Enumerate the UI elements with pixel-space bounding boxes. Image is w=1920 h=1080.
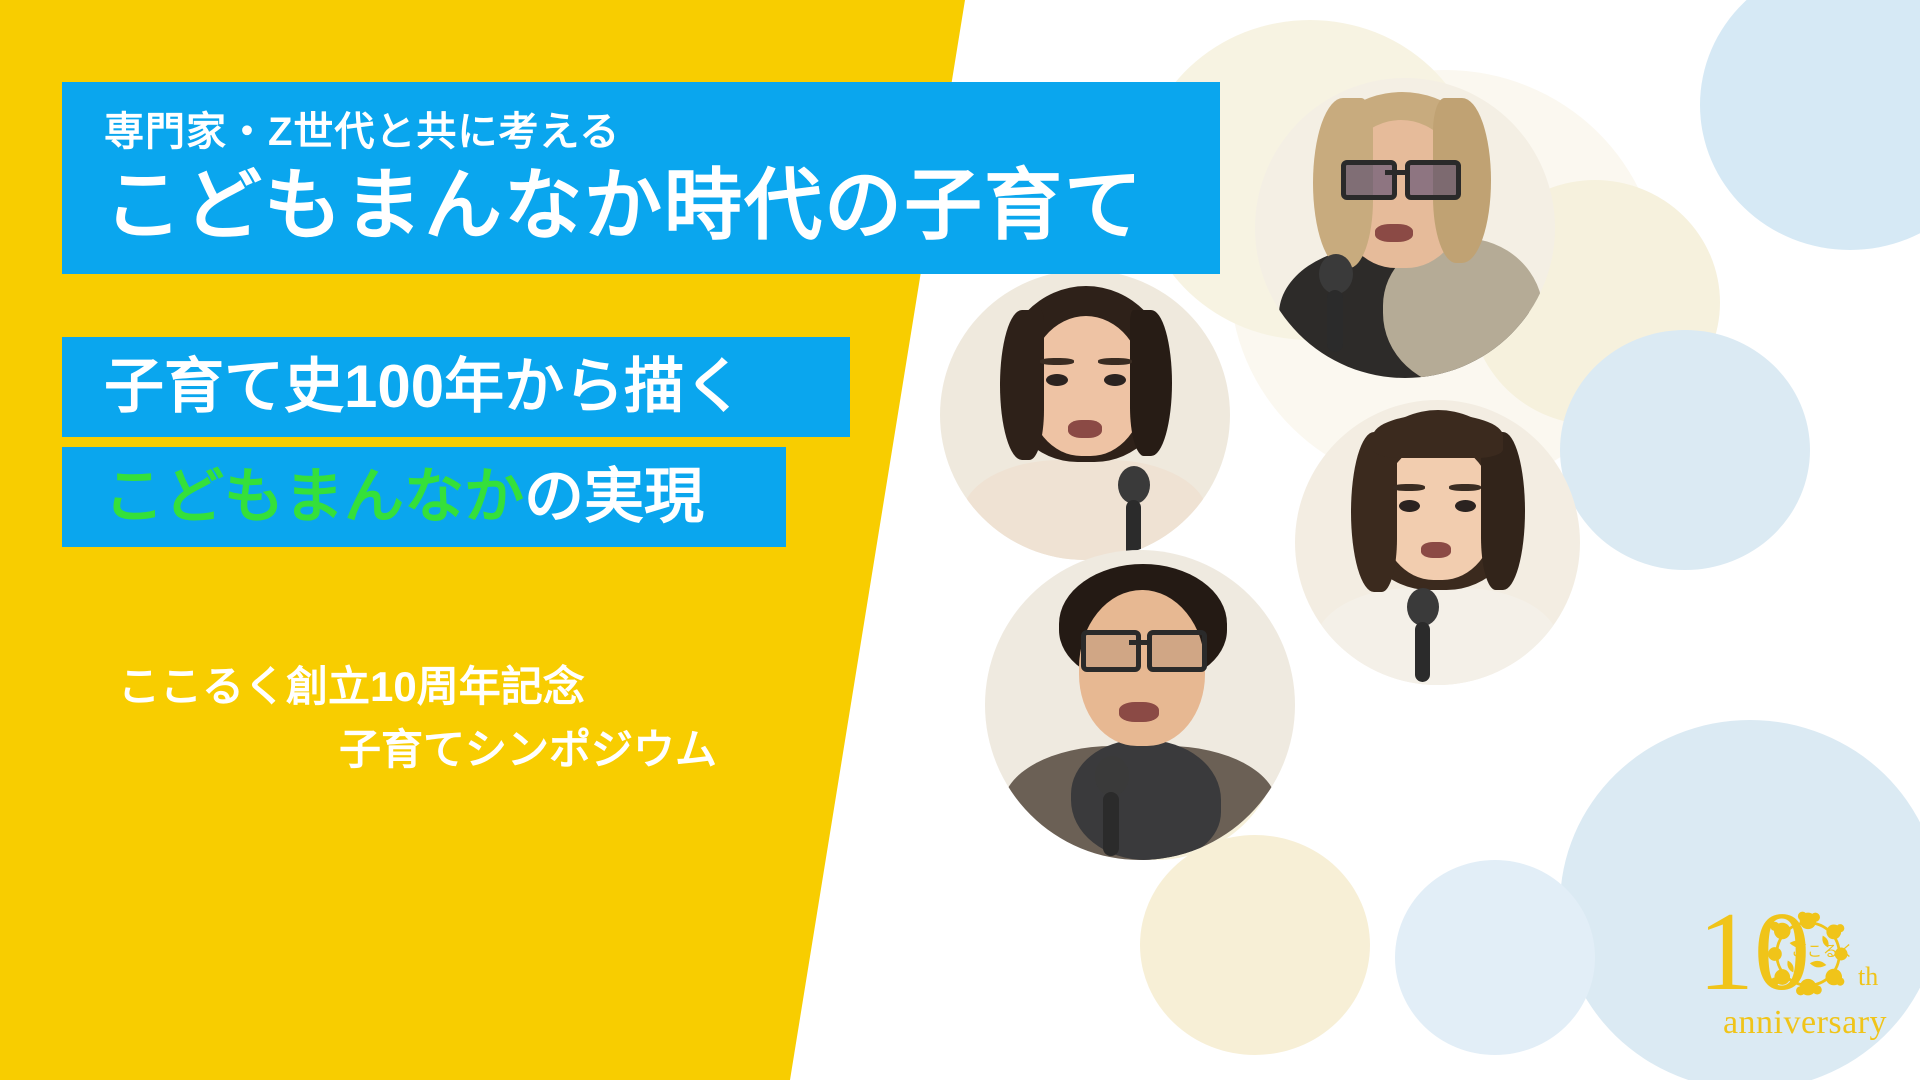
speaker-portrait-2 <box>940 270 1230 560</box>
subtitle-rest: の実現 <box>524 463 704 530</box>
subtitle-band-1: 子育て史100年から描く <box>62 337 850 437</box>
decorative-blob-blue <box>1395 860 1595 1055</box>
event-caption: ここるく創立10周年記念 子育てシンポジウム <box>118 655 818 781</box>
subtitle-highlight: こどもまんなか <box>104 463 524 530</box>
title-band: 専門家・Z世代と共に考える こどもまんなか時代の子育て <box>62 82 1220 274</box>
speaker-portrait-3 <box>1295 400 1580 685</box>
decorative-blob-blue <box>1560 330 1810 570</box>
caption-line-1: ここるく創立10周年記念 <box>118 663 585 710</box>
title-main: こどもまんなか時代の子育て <box>104 166 1144 244</box>
caption-line-2: 子育てシンポジウム <box>118 718 818 781</box>
title-kicker: 専門家・Z世代と共に考える <box>104 112 620 152</box>
logo-anniversary-word: anniversary <box>1694 1004 1916 1042</box>
logo-ordinal: th <box>1858 962 1878 992</box>
portrait-photo <box>1295 400 1580 685</box>
portrait-photo <box>985 550 1295 860</box>
portrait-photo <box>1255 78 1555 378</box>
speaker-portrait-1 <box>1255 78 1555 378</box>
decorative-blob-blue <box>1700 0 1920 250</box>
subtitle-band-2: こどもまんなかの実現 <box>62 447 786 547</box>
logo-top-row: 10 ここるく th <box>1690 900 1920 1010</box>
portrait-photo <box>940 270 1230 560</box>
speaker-portrait-4 <box>985 550 1295 860</box>
subtitle-text-2: こどもまんなかの実現 <box>104 467 704 527</box>
subtitle-text-1: 子育て史100年から描く <box>104 357 744 417</box>
logo-brand-name: ここるく <box>1788 940 1858 961</box>
anniversary-logo: 10 ここるく th <box>1690 900 1920 1060</box>
decorative-blob-cream <box>1140 835 1370 1055</box>
event-poster: 専門家・Z世代と共に考える こどもまんなか時代の子育て 子育て史100年から描く… <box>0 0 1920 1080</box>
